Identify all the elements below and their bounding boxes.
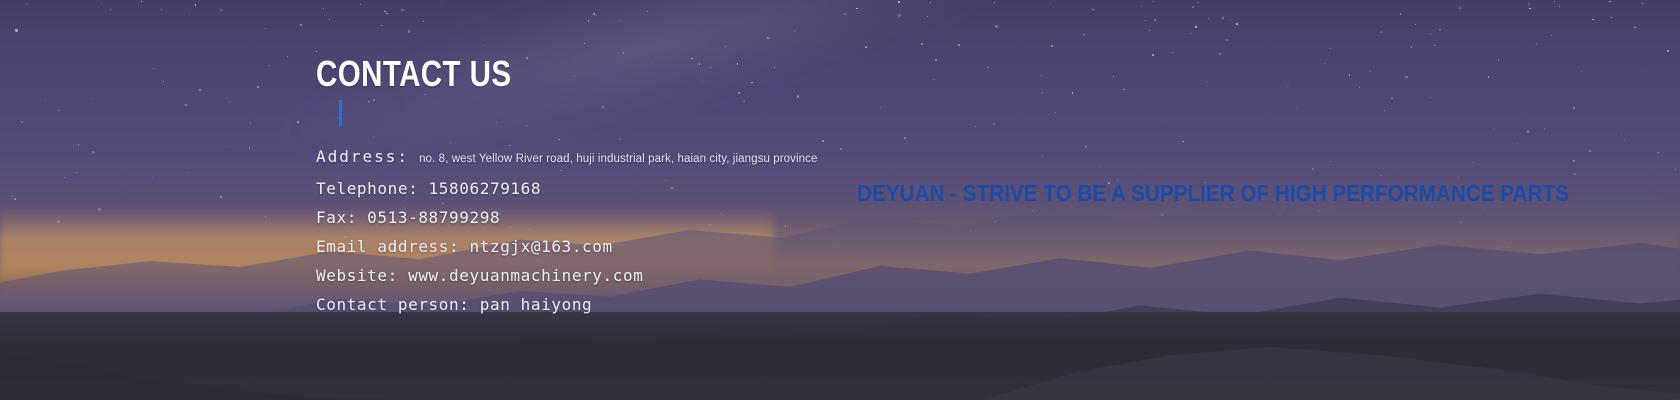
contact-line-person: Contact person: pan haiyong [316, 290, 818, 319]
accent-bar [339, 100, 342, 126]
contact-line-fax: Fax: 0513-88799298 [316, 203, 818, 232]
contact-line-telephone: Telephone: 15806279168 [316, 174, 818, 203]
contact-details-list: Address: no. 8, west Yellow River road, … [316, 142, 818, 319]
contact-line-email[interactable]: Email address: ntzgjx@163.com [316, 232, 818, 261]
contact-banner: CONTACT US Address: no. 8, west Yellow R… [0, 0, 1680, 400]
contact-line-website[interactable]: Website: www.deyuanmachinery.com [316, 261, 818, 290]
address-value: no. 8, west Yellow River road, huji indu… [419, 145, 817, 174]
contact-line-address: Address: no. 8, west Yellow River road, … [316, 142, 818, 174]
banner-content: CONTACT US Address: no. 8, west Yellow R… [0, 0, 1680, 400]
address-label: Address: [316, 142, 409, 171]
company-tagline: DEYUAN - STRIVE TO BE A SUPPLIER OF HIGH… [857, 182, 1569, 205]
page-title: CONTACT US [316, 56, 511, 92]
